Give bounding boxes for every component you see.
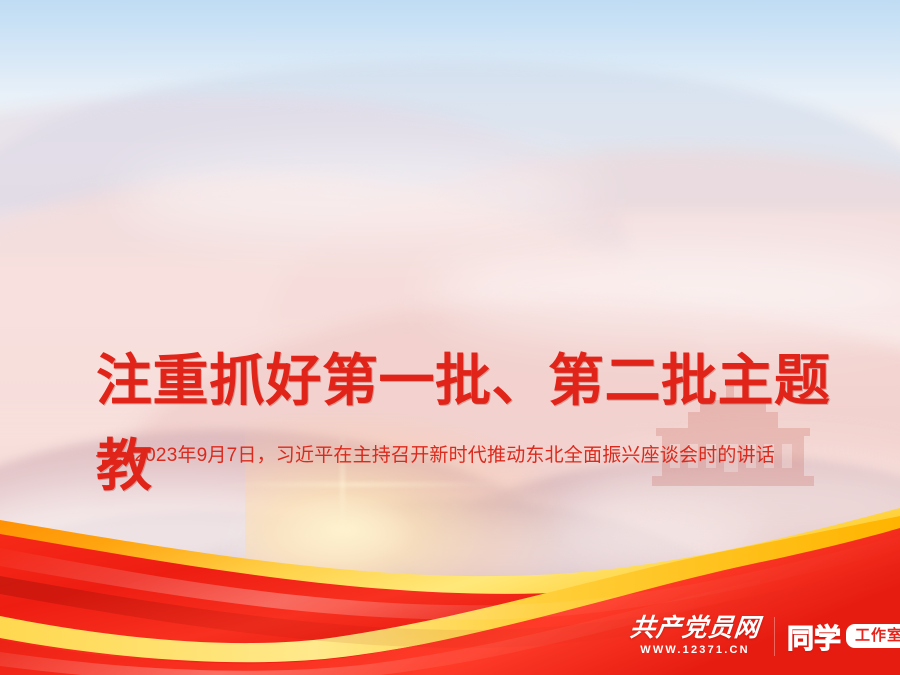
site-brand[interactable]: 共产党员网 WWW.12371.CN xyxy=(630,616,760,656)
page-title: 注重抓好第一批、第二批主题教 育的衔接联动，落实好党中央提 出的目标要求和各项重… xyxy=(96,168,856,675)
studio-name-logo: 同学 xyxy=(787,617,841,656)
quote-attribution: ——2023年9月7日，习近平在主持召开新时代推动东北全面振兴座谈会时的讲话 xyxy=(96,437,851,474)
headline-line-1: 注重抓好第一批、第二批主题教 xyxy=(96,338,856,508)
site-name-logo: 共产党员网 xyxy=(629,616,762,641)
studio-brand[interactable]: 同学 工作室 xyxy=(774,617,900,656)
site-url-label: WWW.12371.CN xyxy=(640,645,750,656)
content-layer: 注重抓好第一批、第二批主题教 育的衔接联动，落实好党中央提 出的目标要求和各项重… xyxy=(0,0,900,675)
poster-canvas: 注重抓好第一批、第二批主题教 育的衔接联动，落实好党中央提 出的目标要求和各项重… xyxy=(0,0,900,675)
logo-lockup[interactable]: 共产党员网 WWW.12371.CN 同学 工作室 xyxy=(630,608,888,664)
studio-suffix-badge: 工作室 xyxy=(846,624,900,648)
